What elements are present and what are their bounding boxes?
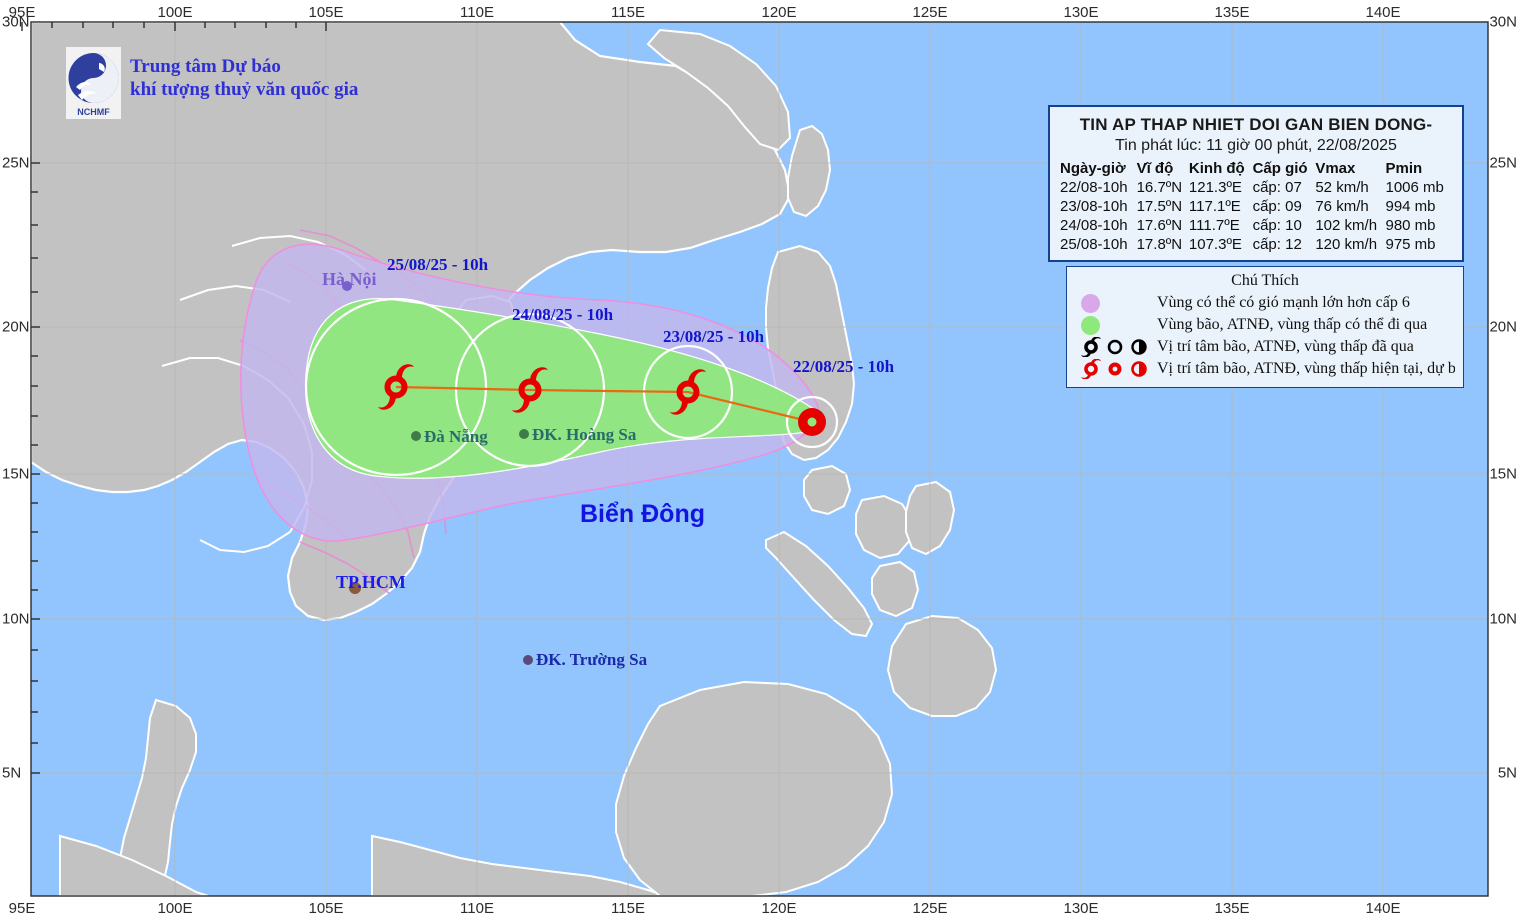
map-frame-border <box>31 22 1488 896</box>
storm-track-map: 25/08/25 - 10h 24/08/25 - 10h 23/08/25 -… <box>0 0 1519 919</box>
tick-marks <box>22 22 326 773</box>
axis-ticks-layer <box>0 0 1519 919</box>
